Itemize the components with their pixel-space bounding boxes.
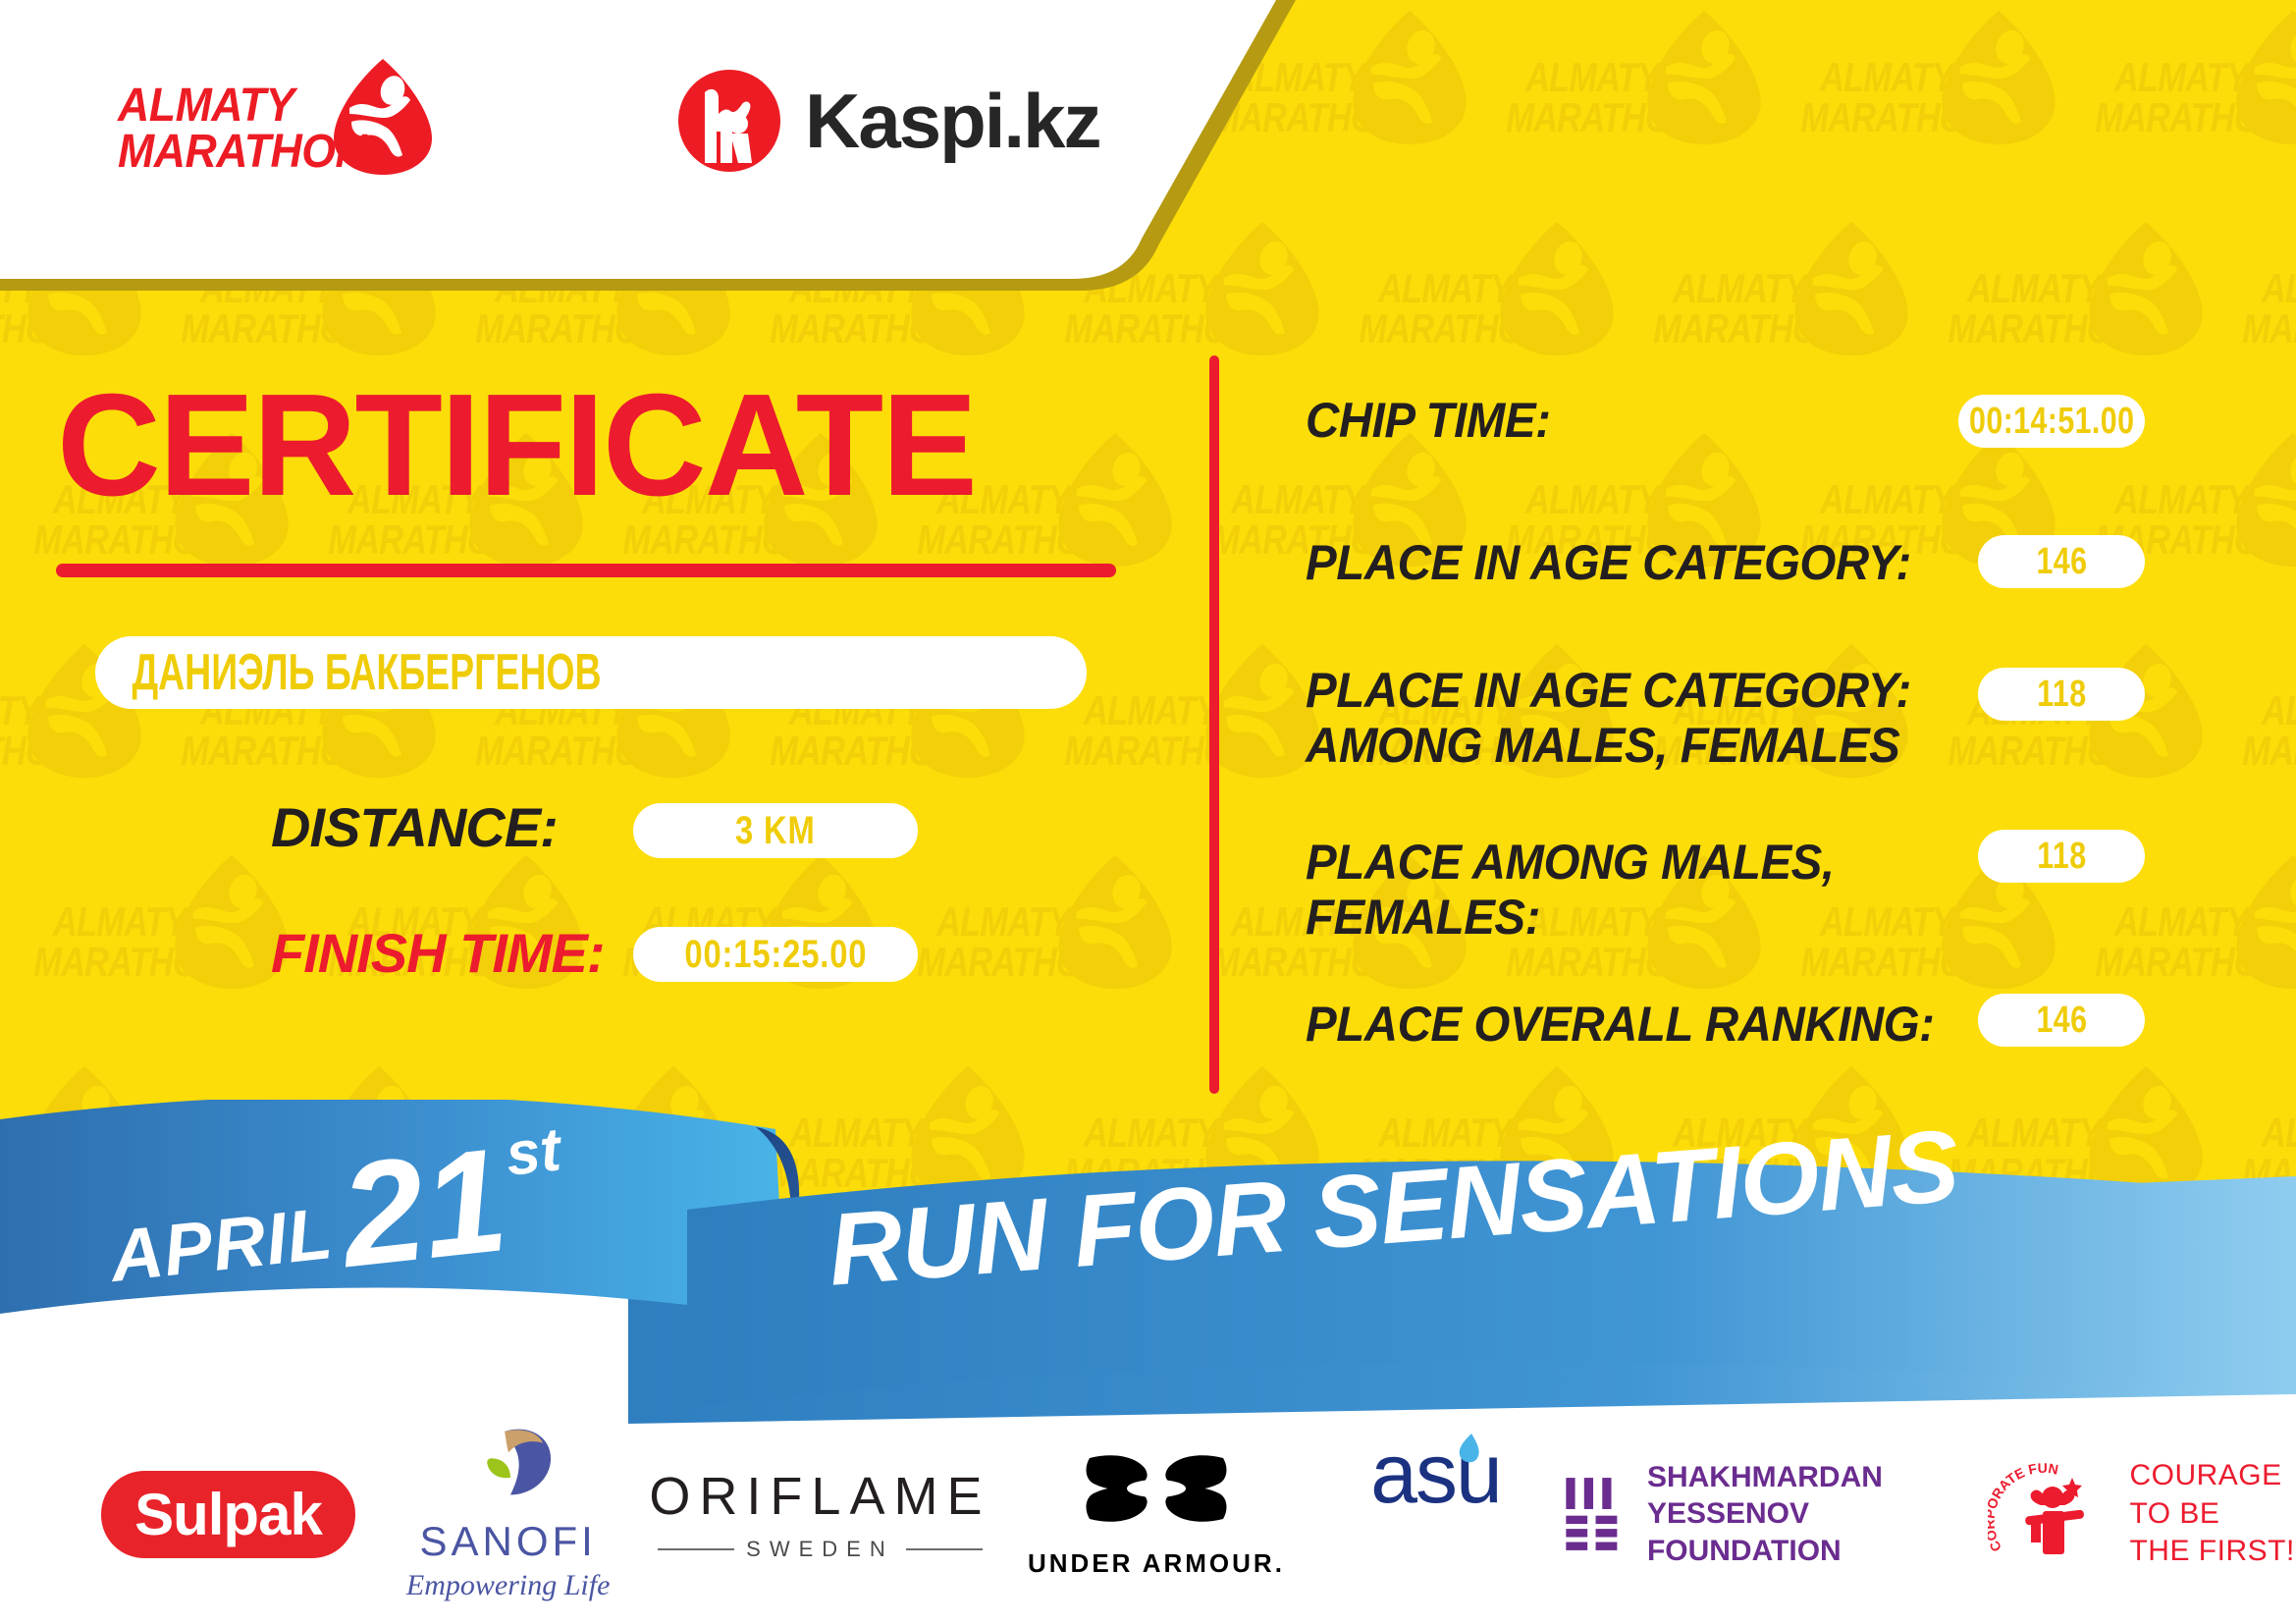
watermark-text: ALMATYMARATHON	[1800, 57, 1953, 137]
watermark-line-2: MARATHON	[1064, 731, 1217, 771]
watermark-line-1: ALMATY	[917, 901, 1070, 942]
watermark-line-2: MARATHON	[770, 731, 923, 771]
watermark-line-2: MARATHON	[181, 731, 334, 771]
stat-row-place-among: PLACE AMONG MALES, FEMALES:	[1306, 835, 1862, 945]
finish-time-value-pill: 00:15:25.00	[633, 927, 918, 982]
watermark-line-2: MARATHON	[1064, 308, 1217, 349]
watermark-line-2: MARATHON	[1800, 942, 1953, 982]
watermark-line-2: MARATHON	[475, 308, 628, 349]
distance-label: DISTANCE:	[271, 795, 558, 859]
watermark-line-2: MARATHON	[1211, 942, 1364, 982]
watermark-text: ALMATYMARATHON	[917, 901, 1070, 982]
sponsor-yessenov-foundation: SHAKHMARDAN YESSENOV FOUNDATION	[1563, 1426, 1988, 1602]
finish-time-label: FINISH TIME:	[271, 921, 605, 985]
kaspi-logo: Kaspi.kz	[677, 69, 1099, 173]
sanofi-wordmark: SANOFI	[419, 1518, 596, 1565]
stat-label: PLACE IN AGE CATEGORY:	[1306, 535, 1911, 590]
title-underline	[56, 564, 1116, 577]
distance-row: DISTANCE:	[271, 795, 558, 859]
yessenov-line-1: SHAKHMARDAN YESSENOV	[1647, 1459, 1987, 1533]
watermark-line-2: MARATHON	[0, 308, 39, 349]
watermark-line-1: ALMATY	[2242, 268, 2296, 308]
sulpak-wordmark: Sulpak	[134, 1482, 322, 1547]
courage-line-2: TO BE	[2129, 1495, 2294, 1533]
distance-value: 3 KM	[735, 809, 816, 853]
watermark-text: ALMATYMARATHON	[33, 901, 187, 982]
stat-value: 118	[2037, 836, 2086, 878]
sponsor-sanofi: SANOFI Empowering Life	[378, 1426, 639, 1602]
logo-line-2: MARATHON	[118, 129, 355, 175]
participant-name-field: ДАНИЭЛЬ БАКБЕРГЕНОВ	[95, 636, 1087, 709]
kaspi-people-icon	[677, 69, 781, 173]
watermark-line-2: MARATHON	[1653, 308, 1806, 349]
yessenov-bars-icon	[1563, 1469, 1622, 1559]
stat-row-place-age: PLACE IN AGE CATEGORY:	[1306, 535, 1943, 590]
page-title: CERTIFICATE	[57, 373, 976, 518]
watermark-text: ALMATYMARATHON	[1359, 268, 1512, 349]
sanofi-tagline: Empowering Life	[406, 1569, 611, 1602]
oriflame-subtitle: SWEDEN	[746, 1537, 894, 1562]
watermark-line-1: ALMATY	[2095, 479, 2248, 519]
watermark-line-2: MARATHON	[475, 731, 628, 771]
sponsor-strip: Sulpak SANOFI Empowering Life ORIFLAME S…	[0, 1404, 2296, 1624]
courage-line-1: COURAGE	[2129, 1457, 2294, 1494]
under-armour-wordmark: UNDER ARMOUR.	[1028, 1548, 1285, 1579]
watermark-tile: ALMATYMARATHON	[1620, 211, 1914, 422]
stat-label: CHIP TIME:	[1306, 393, 1550, 448]
stat-value-pill-chip-time: 00:14:51.00	[1958, 395, 2145, 448]
kaspi-wordmark: Kaspi.kz	[805, 77, 1099, 166]
watermark-tile: ALMATYMARATHON	[1914, 633, 2209, 844]
watermark-line-1: ALMATY	[1800, 479, 1953, 519]
watermark-line-1: ALMATY	[0, 690, 39, 731]
watermark-tile: ALMATYMARATHON	[1472, 0, 1767, 211]
watermark-line-2: MARATHON	[33, 942, 187, 982]
watermark-line-1: ALMATY	[1948, 268, 2101, 308]
sponsor-oriflame: ORIFLAME SWEDEN	[658, 1426, 982, 1602]
watermark-text: ALMATYMARATHON	[1948, 268, 2101, 349]
watermark-line-2: MARATHON	[2095, 97, 2248, 137]
column-divider	[1209, 355, 1219, 1094]
watermark-tile: ALMATYMARATHON	[1914, 211, 2209, 422]
asu-drop-icon	[1454, 1432, 1483, 1471]
courage-figure-icon: CORPORATE FUND	[1988, 1460, 2115, 1568]
watermark-text: ALMATYMARATHON	[2242, 690, 2296, 771]
watermark-line-1: ALMATY	[2095, 57, 2248, 97]
stat-label: PLACE AMONG MALES, FEMALES:	[1306, 835, 1835, 945]
sanofi-mark-icon	[454, 1426, 563, 1514]
watermark-line-2: MARATHON	[0, 731, 39, 771]
stat-label: PLACE IN AGE CATEGORY: AMONG MALES, FEMA…	[1306, 663, 1911, 773]
watermark-line-2: MARATHON	[2242, 308, 2296, 349]
yessenov-line-2: FOUNDATION	[1647, 1533, 1987, 1570]
watermark-line-1: ALMATY	[1506, 57, 1659, 97]
stat-label: PLACE OVERALL RANKING:	[1306, 997, 1935, 1052]
watermark-line-1: ALMATY	[1506, 479, 1659, 519]
watermark-line-2: MARATHON	[917, 942, 1070, 982]
sponsor-under-armour: UNDER ARMOUR.	[1011, 1426, 1301, 1602]
watermark-text: ALMATYMARATHON	[2242, 268, 2296, 349]
participant-name: ДАНИЭЛЬ БАКБЕРГЕНОВ	[95, 643, 602, 702]
watermark-line-2: MARATHON	[1506, 97, 1659, 137]
watermark-tile: ALMATYMARATHON	[1767, 422, 2061, 633]
stat-value-pill-overall: 146	[1978, 994, 2145, 1047]
stat-value-pill-place-age-among: 118	[1978, 668, 2145, 721]
oriflame-rule-right	[906, 1548, 983, 1550]
watermark-tile: ALMATYMARATHON	[0, 844, 294, 1056]
watermark-tile: ALMATYMARATHON	[883, 844, 1178, 1056]
watermark-line-2: MARATHON	[1506, 942, 1659, 982]
watermark-text: ALMATYMARATHON	[2095, 901, 2248, 982]
courage-line-3: THE FIRST!	[2129, 1533, 2294, 1570]
stat-value: 118	[2037, 674, 2086, 716]
oriflame-wordmark: ORIFLAME	[649, 1466, 990, 1527]
watermark-tile: ALMATYMARATHON	[1325, 211, 1620, 422]
watermark-line-2: MARATHON	[770, 308, 923, 349]
watermark-text: ALMATYMARATHON	[1506, 57, 1659, 137]
stat-value-pill-place-age: 146	[1978, 535, 2145, 588]
watermark-text: ALMATYMARATHON	[1064, 690, 1217, 771]
watermark-line-2: MARATHON	[1948, 731, 2101, 771]
watermark-line-1: ALMATY	[1800, 57, 1953, 97]
certificate-page: ALMATYMARATHONALMATYMARATHONALMATYMARATH…	[0, 0, 2296, 1624]
watermark-line-2: MARATHON	[1359, 308, 1512, 349]
watermark-line-2: MARATHON	[1800, 97, 1953, 137]
watermark-text: ALMATYMARATHON	[2095, 57, 2248, 137]
watermark-tile: ALMATYMARATHON	[2209, 633, 2296, 844]
watermark-line-1: ALMATY	[1359, 268, 1512, 308]
stat-value-pill-place-among: 118	[1978, 830, 2145, 883]
finish-time-value: 00:15:25.00	[684, 933, 867, 977]
watermark-line-1: ALMATY	[33, 901, 187, 942]
watermark-tile: ALMATYMARATHON	[1767, 0, 2061, 211]
stat-value: 146	[2036, 541, 2087, 583]
watermark-text: ALMATYMARATHON	[0, 690, 39, 771]
under-armour-icon	[1080, 1450, 1233, 1541]
watermark-tile: ALMATYMARATHON	[1472, 422, 1767, 633]
watermark-line-1: ALMATY	[1211, 479, 1364, 519]
watermark-tile: ALMATYMARATHON	[2209, 211, 2296, 422]
sponsor-asu: asu	[1310, 1426, 1542, 1602]
watermark-tile: ALMATYMARATHON	[1178, 422, 1472, 633]
stat-row-place-age-among: PLACE IN AGE CATEGORY: AMONG MALES, FEMA…	[1306, 663, 1943, 773]
finish-time-row: FINISH TIME:	[271, 921, 605, 985]
watermark-text: ALMATYMARATHON	[1653, 268, 1806, 349]
watermark-line-2: MARATHON	[1948, 308, 2101, 349]
watermark-line-2: MARATHON	[181, 308, 334, 349]
stat-row-chip-time: CHIP TIME:	[1306, 393, 1564, 448]
distance-value-pill: 3 KM	[633, 803, 918, 858]
stat-value: 146	[2036, 1000, 2087, 1042]
oriflame-rule-left	[658, 1548, 734, 1550]
watermark-line-1: ALMATY	[2242, 690, 2296, 731]
sponsor-sulpak: Sulpak	[79, 1426, 378, 1602]
watermark-tile: ALMATYMARATHON	[2061, 0, 2296, 211]
watermark-line-1: ALMATY	[1064, 690, 1217, 731]
almaty-marathon-wordmark: ALMATY MARATHON	[118, 82, 355, 175]
stat-row-overall: PLACE OVERALL RANKING:	[1306, 997, 1967, 1052]
event-day: 21	[336, 1136, 512, 1278]
stat-value: 00:14:51.00	[1969, 401, 2134, 443]
watermark-line-2: MARATHON	[2242, 731, 2296, 771]
watermark-line-1: ALMATY	[2095, 901, 2248, 942]
almaty-marathon-logo: ALMATY MARATHON	[118, 61, 442, 184]
logo-line-1: ALMATY	[118, 82, 355, 129]
watermark-tile: ALMATYMARATHON	[2061, 422, 2296, 633]
watermark-line-1: ALMATY	[1653, 268, 1806, 308]
watermark-line-2: MARATHON	[2095, 942, 2248, 982]
sponsor-courage-to-be-the-first: CORPORATE FUND COURAGE TO BE THE FIRST!	[1987, 1426, 2296, 1602]
